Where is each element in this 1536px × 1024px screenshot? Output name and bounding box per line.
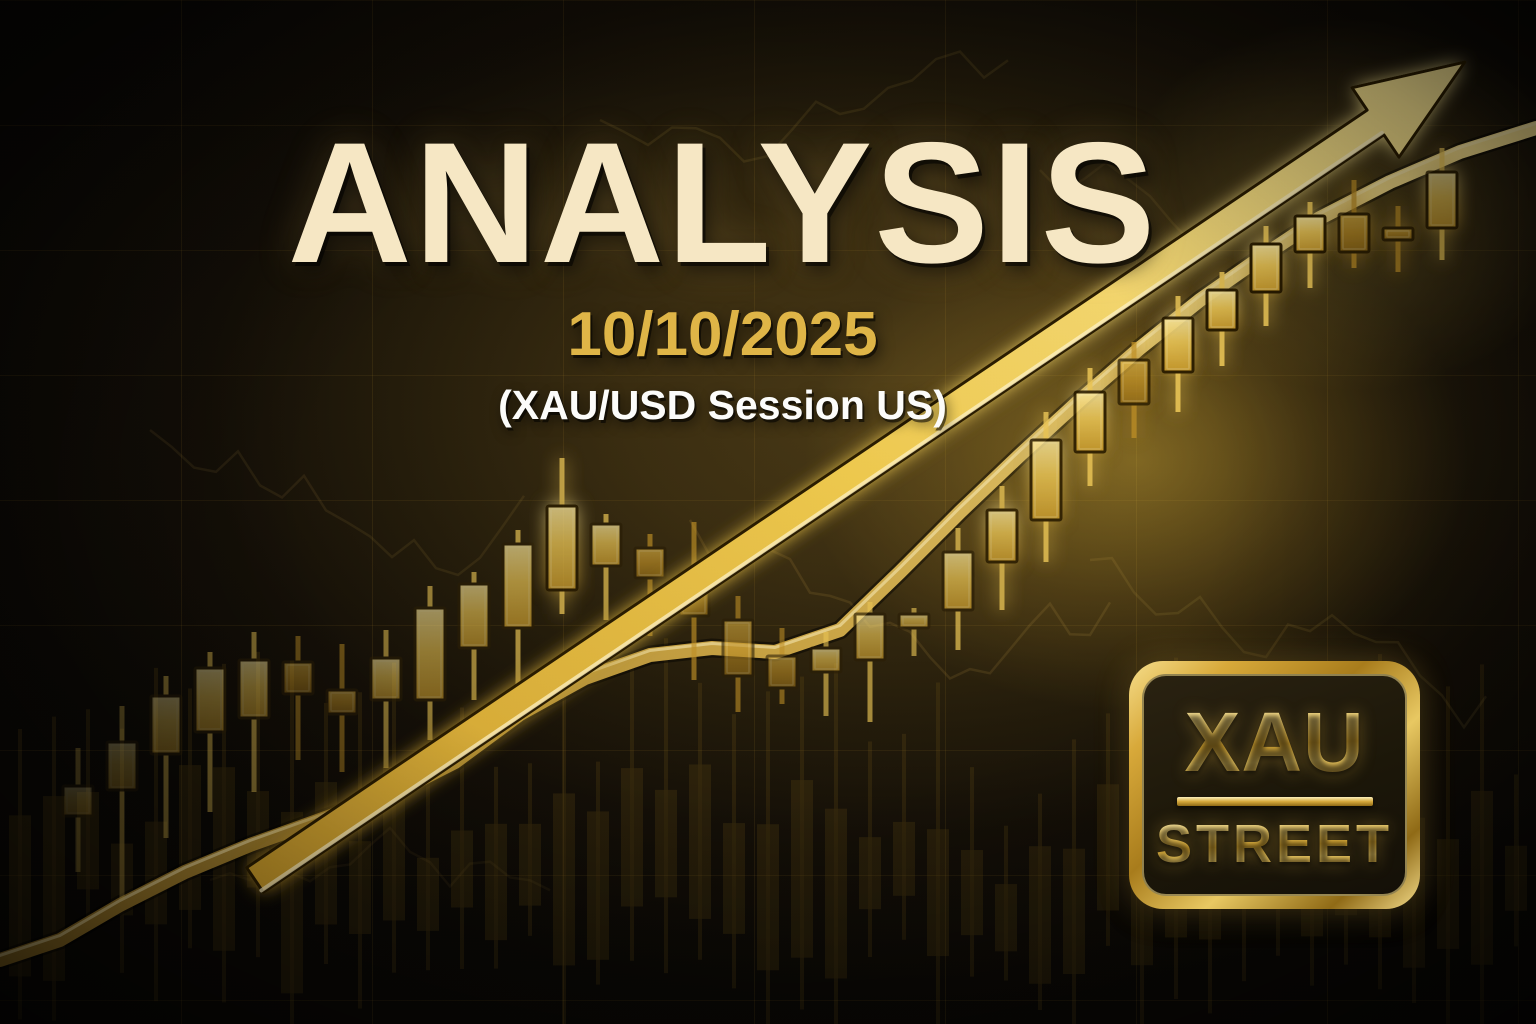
analysis-banner: ANALYSIS 10/10/2025 (XAU/USD Session US)…	[0, 0, 1536, 1024]
logo-word-xau: XAU	[1184, 700, 1364, 784]
xau-street-logo[interactable]: XAU STREET	[1129, 661, 1420, 909]
logo-divider-rule	[1177, 797, 1373, 806]
logo-inner-frame: XAU STREET	[1142, 674, 1407, 896]
logo-word-street: STREET	[1156, 817, 1393, 871]
